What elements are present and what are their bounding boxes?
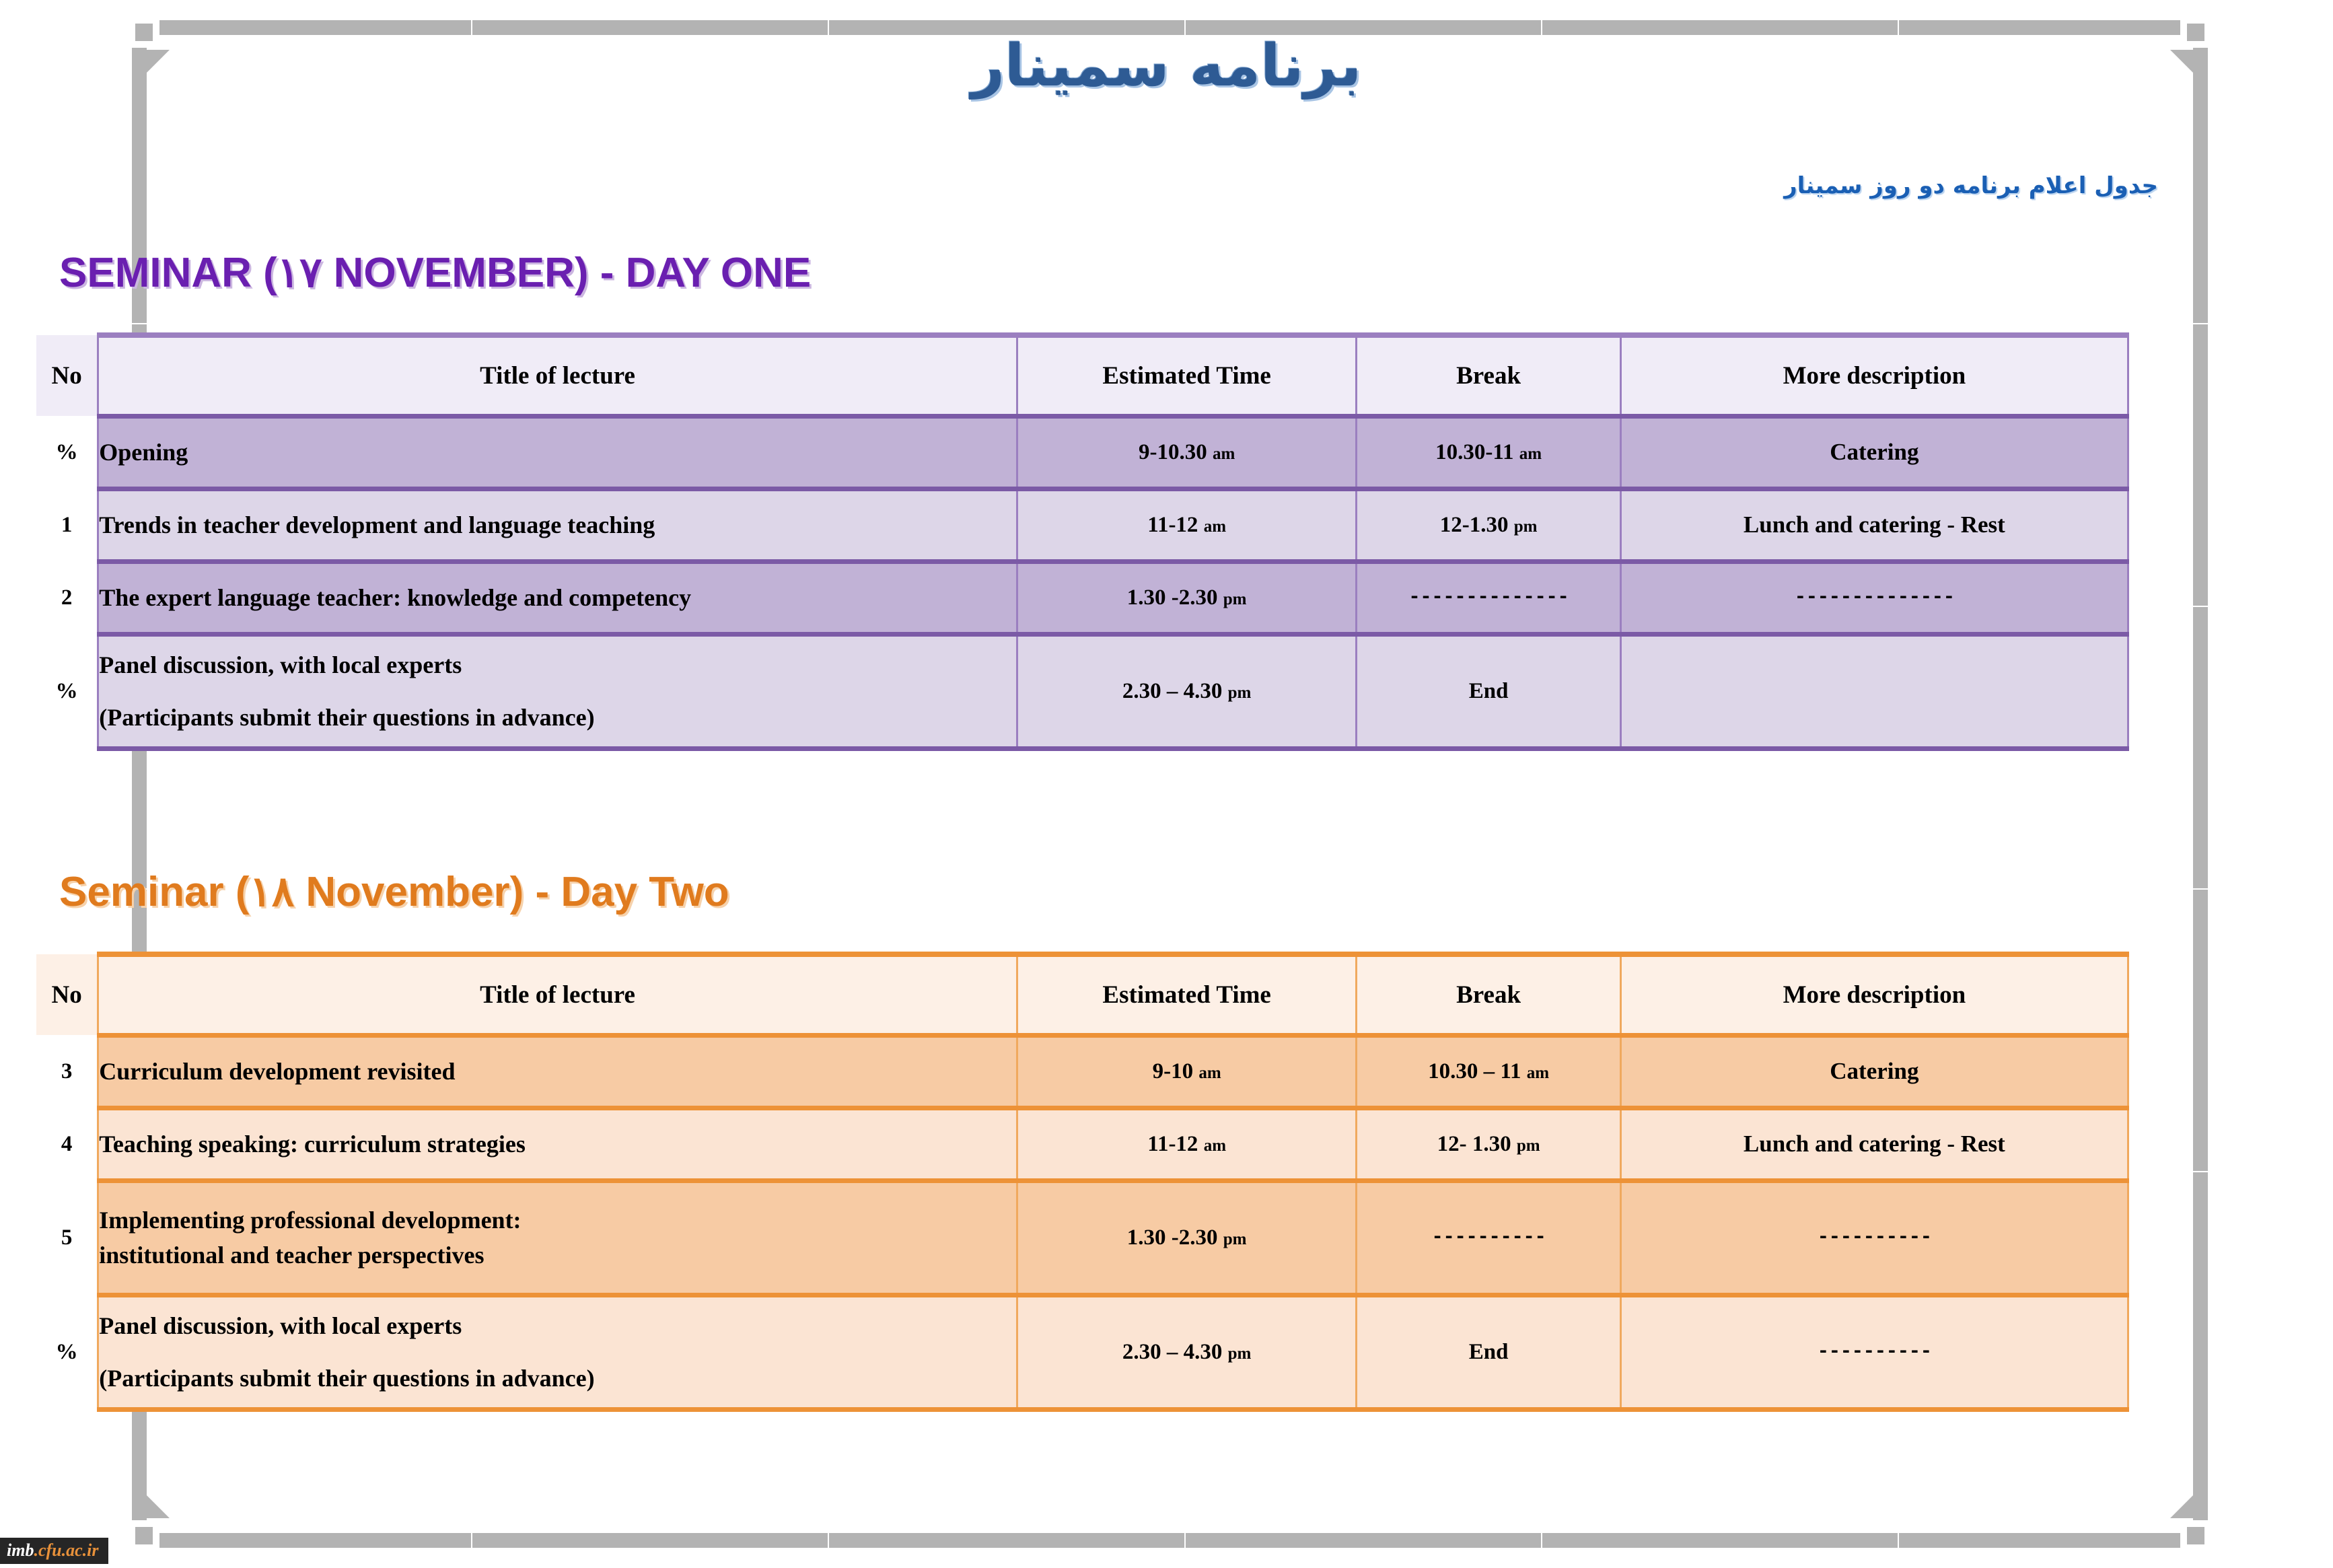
break-time: -------------- xyxy=(1357,561,1620,634)
column-header-estimated-time: Estimated Time xyxy=(1017,335,1356,416)
break-suffix: am xyxy=(1519,445,1542,463)
break-time: 12-1.30 pm xyxy=(1357,489,1620,561)
more-description: ---------- xyxy=(1620,1180,2128,1295)
row-number: 3 xyxy=(36,1035,98,1108)
site-watermark: imb.cfu.ac.ir xyxy=(0,1538,108,1564)
document-subtitle: جدول اعلام برنامه دو روز سمینار xyxy=(1784,172,2158,199)
estimated-time: 2.30 – 4.30 pm xyxy=(1017,634,1356,748)
watermark-name: imb xyxy=(7,1540,34,1560)
corner-marker-bottom-right xyxy=(2180,1520,2211,1551)
more-description xyxy=(1620,634,2128,748)
table-row: % Opening 9-10.30 am 10.30-11 am Caterin… xyxy=(36,416,2128,489)
frame-notch xyxy=(132,323,147,324)
frame-notch xyxy=(828,1533,829,1548)
frame-notch xyxy=(2193,323,2208,324)
break-value: 10.30 – 11 xyxy=(1428,1059,1521,1083)
document-title: برنامه سمینار xyxy=(0,32,2333,100)
time-suffix: pm xyxy=(1223,590,1247,608)
more-description: -------------- xyxy=(1620,561,2128,634)
schedule-table-day-one: No Title of lecture Estimated Time Break… xyxy=(36,332,2129,751)
column-header-estimated-time: Estimated Time xyxy=(1017,954,1356,1035)
lecture-title: Panel discussion, with local experts (Pa… xyxy=(98,634,1017,748)
watermark-domain: .cfu.ac.ir xyxy=(34,1540,98,1560)
break-suffix: pm xyxy=(1517,1137,1540,1155)
time-value: 9-10 xyxy=(1153,1059,1194,1083)
break-time: 10.30-11 am xyxy=(1357,416,1620,489)
column-header-title: Title of lecture xyxy=(98,335,1017,416)
corner-triangle-bottom-right xyxy=(2170,1495,2193,1518)
corner-square xyxy=(2187,1527,2204,1544)
frame-right-bar xyxy=(2193,20,2208,1548)
lecture-title-line1: Panel discussion, with local experts xyxy=(99,1308,1016,1343)
lecture-title-line1: Panel discussion, with local experts xyxy=(99,647,1016,682)
lecture-title-line2: (Participants submit their questions in … xyxy=(99,700,1016,735)
lecture-title: Trends in teacher development and langua… xyxy=(98,489,1017,561)
frame-notch xyxy=(2193,1171,2208,1172)
time-value: 11-12 xyxy=(1147,513,1198,537)
estimated-time: 9-10.30 am xyxy=(1017,416,1356,489)
break-value: 10.30-11 xyxy=(1435,440,1513,464)
table-row: 2 The expert language teacher: knowledge… xyxy=(36,561,2128,634)
more-description: Catering xyxy=(1620,1035,2128,1108)
column-header-break: Break xyxy=(1357,954,1620,1035)
break-value: 12-1.30 xyxy=(1440,513,1509,537)
corner-square xyxy=(135,1527,153,1544)
lecture-title: Curriculum development revisited xyxy=(98,1035,1017,1108)
row-number: 2 xyxy=(36,561,98,634)
more-description: ---------- xyxy=(1620,1295,2128,1409)
time-value: 2.30 – 4.30 xyxy=(1122,1340,1223,1364)
estimated-time: 1.30 -2.30 pm xyxy=(1017,561,1356,634)
break-suffix: pm xyxy=(1514,518,1538,536)
time-value: 11-12 xyxy=(1147,1132,1198,1156)
time-suffix: pm xyxy=(1228,1345,1252,1363)
column-header-no: No xyxy=(36,335,98,416)
frame-bottom-bar xyxy=(132,1533,2208,1548)
corner-marker-bottom-left xyxy=(129,1520,159,1551)
break-suffix: am xyxy=(1527,1064,1549,1082)
table-row: % Panel discussion, with local experts (… xyxy=(36,634,2128,748)
row-number: % xyxy=(36,634,98,748)
row-number: 4 xyxy=(36,1108,98,1180)
column-header-break: Break xyxy=(1357,335,1620,416)
break-time: ---------- xyxy=(1357,1180,1620,1295)
time-suffix: am xyxy=(1213,445,1235,463)
column-header-no: No xyxy=(36,954,98,1035)
lecture-title: Teaching speaking: curriculum strategies xyxy=(98,1108,1017,1180)
frame-notch xyxy=(2193,888,2208,890)
row-number: % xyxy=(36,1295,98,1409)
lecture-title: Opening xyxy=(98,416,1017,489)
estimated-time: 11-12 am xyxy=(1017,489,1356,561)
estimated-time: 2.30 – 4.30 pm xyxy=(1017,1295,1356,1409)
row-number: 1 xyxy=(36,489,98,561)
time-suffix: am xyxy=(1204,1137,1226,1155)
time-suffix: am xyxy=(1198,1064,1221,1082)
corner-triangle-bottom-left xyxy=(147,1495,170,1518)
break-time: End xyxy=(1357,1295,1620,1409)
frame-notch xyxy=(1541,1533,1542,1548)
frame-notch xyxy=(1898,1533,1899,1548)
table-row: % Panel discussion, with local experts (… xyxy=(36,1295,2128,1409)
schedule-table-day-two: No Title of lecture Estimated Time Break… xyxy=(36,952,2129,1412)
lecture-title-line2: (Participants submit their questions in … xyxy=(99,1361,1016,1396)
column-header-more-description: More description xyxy=(1620,954,2128,1035)
frame-notch xyxy=(471,1533,472,1548)
column-header-more-description: More description xyxy=(1620,335,2128,416)
time-value: 1.30 -2.30 xyxy=(1127,585,1218,610)
lecture-title: Implementing professional development: i… xyxy=(98,1180,1017,1295)
estimated-time: 11-12 am xyxy=(1017,1108,1356,1180)
break-time: End xyxy=(1357,634,1620,748)
time-value: 2.30 – 4.30 xyxy=(1122,679,1223,703)
table-header-row: No Title of lecture Estimated Time Break… xyxy=(36,954,2128,1035)
lecture-title: Panel discussion, with local experts (Pa… xyxy=(98,1295,1017,1409)
more-description: Catering xyxy=(1620,416,2128,489)
time-suffix: am xyxy=(1204,518,1226,536)
section-heading-day-one: SEMINAR (۱۷ NOVEMBER) - DAY ONE xyxy=(59,248,811,297)
more-description: Lunch and catering - Rest xyxy=(1620,489,2128,561)
table-row: 1 Trends in teacher development and lang… xyxy=(36,489,2128,561)
time-value: 1.30 -2.30 xyxy=(1127,1225,1218,1250)
table-row: 4 Teaching speaking: curriculum strategi… xyxy=(36,1108,2128,1180)
estimated-time: 1.30 -2.30 pm xyxy=(1017,1180,1356,1295)
table-row: 5 Implementing professional development:… xyxy=(36,1180,2128,1295)
break-time: 10.30 – 11 am xyxy=(1357,1035,1620,1108)
time-suffix: pm xyxy=(1228,684,1252,702)
break-time: 12- 1.30 pm xyxy=(1357,1108,1620,1180)
estimated-time: 9-10 am xyxy=(1017,1035,1356,1108)
more-description: Lunch and catering - Rest xyxy=(1620,1108,2128,1180)
break-value: 12- 1.30 xyxy=(1437,1132,1511,1156)
section-heading-day-two: Seminar (۱۸ November) - Day Two xyxy=(59,867,729,916)
column-header-title: Title of lecture xyxy=(98,954,1017,1035)
frame-notch xyxy=(1184,1533,1186,1548)
table-row: 3 Curriculum development revisited 9-10 … xyxy=(36,1035,2128,1108)
row-number: 5 xyxy=(36,1180,98,1295)
table-header-row: No Title of lecture Estimated Time Break… xyxy=(36,335,2128,416)
row-number: % xyxy=(36,416,98,489)
frame-notch xyxy=(2193,606,2208,607)
time-suffix: pm xyxy=(1223,1230,1247,1248)
lecture-title: The expert language teacher: knowledge a… xyxy=(98,561,1017,634)
time-value: 9-10.30 xyxy=(1139,440,1207,464)
